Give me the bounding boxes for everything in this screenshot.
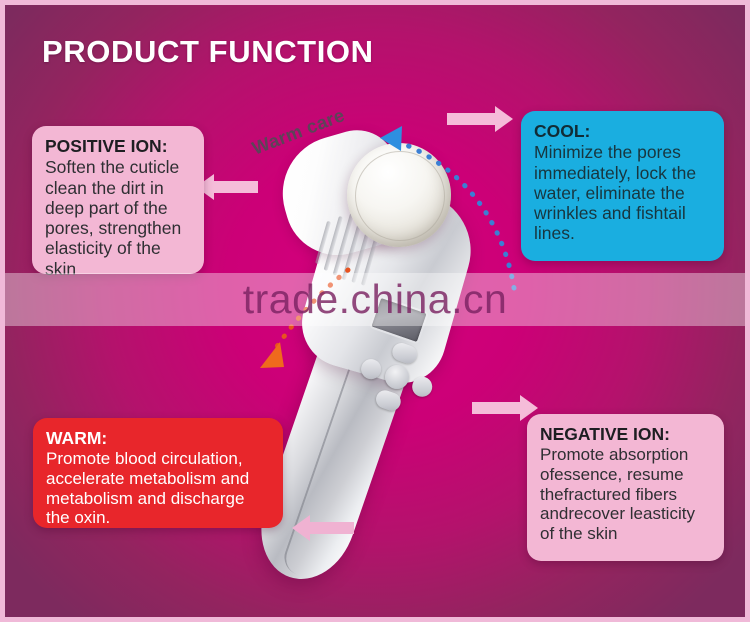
callout-cool-body: Minimize the pores immediately, lock the…	[534, 142, 711, 243]
device-button-power	[382, 362, 413, 393]
callout-negative-ion-heading: NEGATIVE ION:	[540, 424, 711, 444]
arrow-to-negative-ion-icon	[472, 393, 538, 423]
arrow-to-warm-icon	[292, 513, 354, 543]
callout-negative-ion: NEGATIVE ION: Promote absorption ofessen…	[527, 414, 724, 561]
page-title: PRODUCT FUNCTION	[42, 34, 374, 70]
callout-warm-heading: WARM:	[46, 428, 270, 448]
arrow-to-cool-icon	[447, 104, 513, 134]
dotted-arc-cool-icon	[376, 118, 526, 298]
callout-warm: WARM: Promote blood circulation, acceler…	[33, 418, 283, 528]
callout-positive-ion-heading: POSITIVE ION:	[45, 136, 191, 156]
device-button-right	[409, 374, 434, 399]
callout-cool: COOL: Minimize the pores immediately, lo…	[521, 111, 724, 261]
dotted-arc-warm-icon	[240, 266, 360, 406]
callout-positive-ion-body: Soften the cuticle clean the dirt in dee…	[45, 157, 191, 279]
callout-warm-body: Promote blood circulation, accelerate me…	[46, 449, 270, 528]
callout-positive-ion: POSITIVE ION: Soften the cuticle clean t…	[32, 126, 204, 274]
callout-negative-ion-body: Promote absorption ofessence, resume the…	[540, 445, 711, 544]
callout-cool-heading: COOL:	[534, 121, 711, 141]
arrow-to-positive-ion-icon	[196, 172, 258, 202]
infographic-canvas: PRODUCT FUNCTION	[0, 0, 750, 622]
